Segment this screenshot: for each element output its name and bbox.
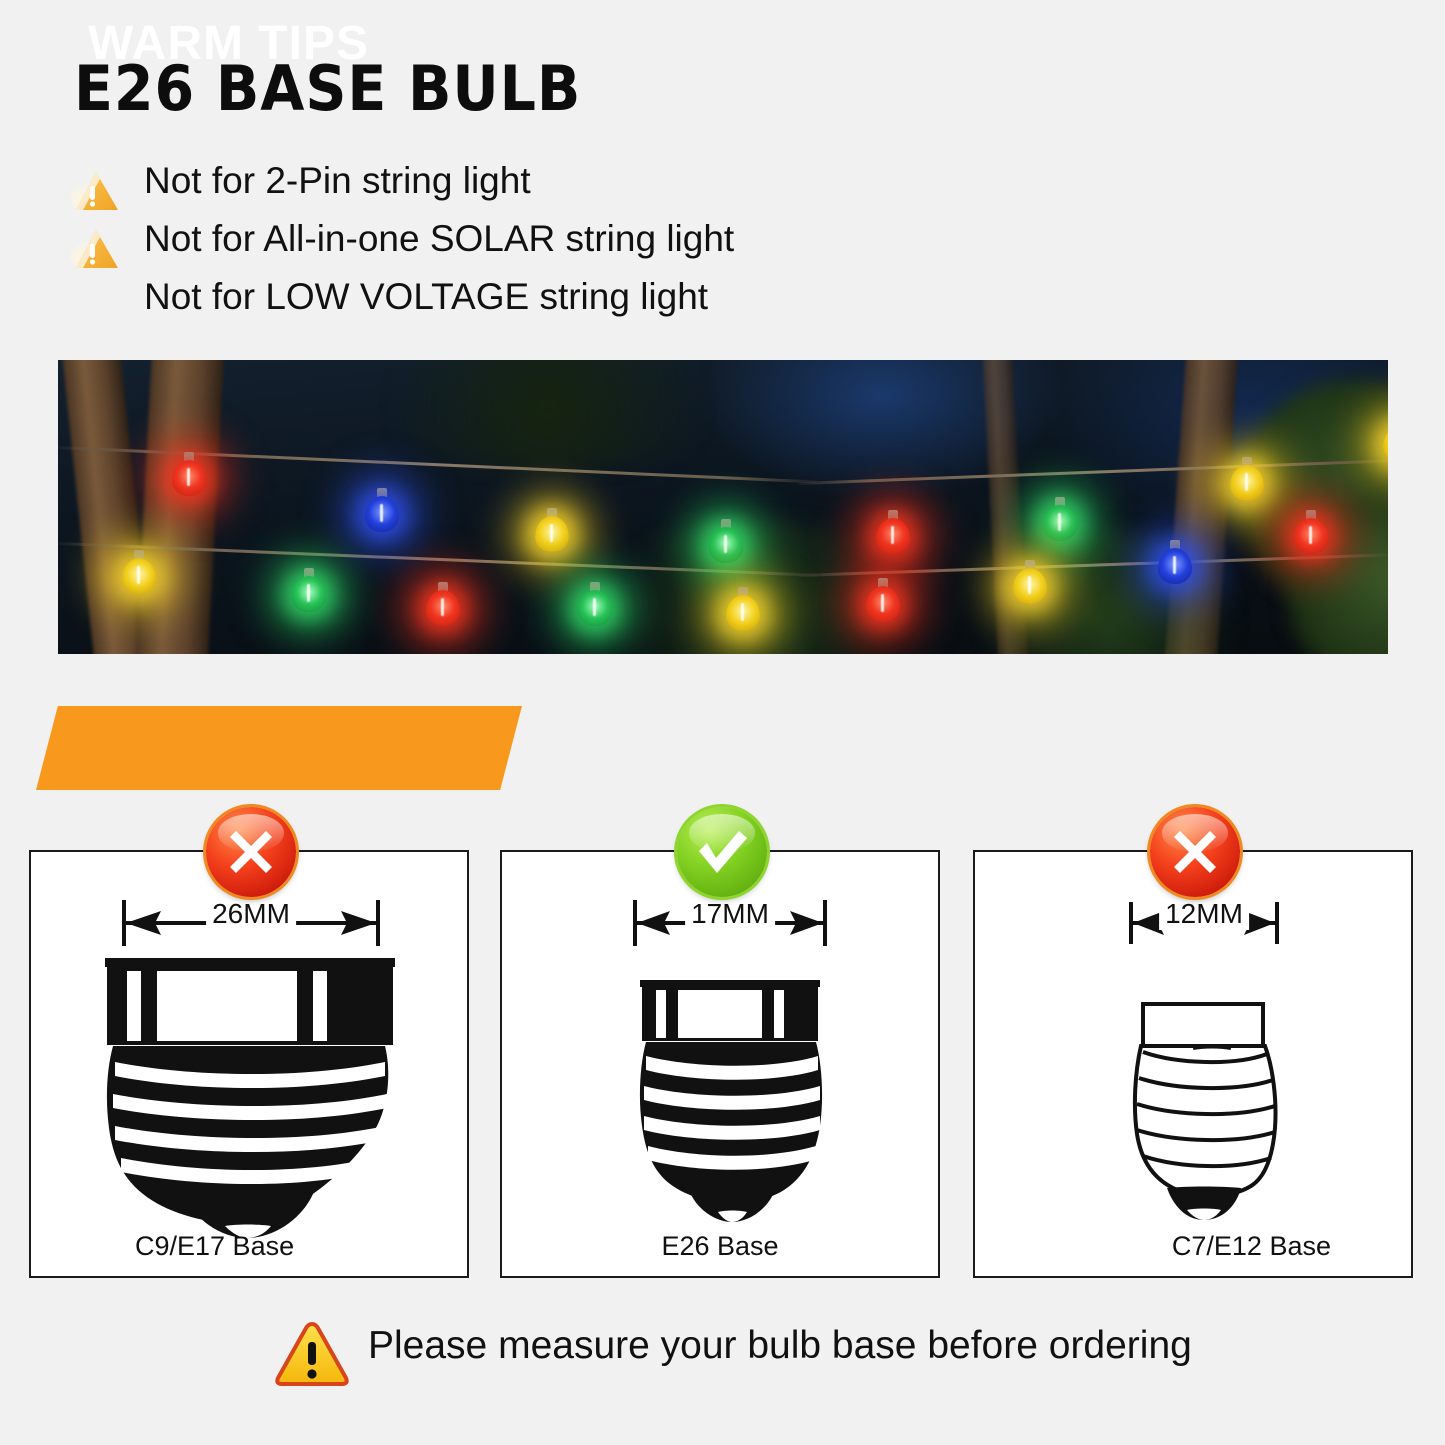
string-light-bulb	[866, 578, 900, 622]
dimension-measure: 26MM	[121, 896, 381, 952]
warning-item: Not for All-in-one SOLAR string light	[62, 218, 1062, 276]
warning-item-label: Not for All-in-one SOLAR string light	[144, 218, 734, 261]
red-x-badge-icon	[206, 807, 296, 897]
string-light-bulb	[1294, 510, 1328, 554]
bulb-base-illustration	[1127, 1002, 1279, 1220]
dimension-measure: 17MM	[632, 896, 828, 952]
dimension-measure: 12MM	[1128, 896, 1280, 952]
base-comparison-cards: 26MM	[0, 850, 1445, 1280]
base-card-e26: 17MM E26 Base	[500, 850, 940, 1278]
red-x-badge-icon	[1150, 807, 1240, 897]
base-card-c9-e17: 26MM	[29, 850, 469, 1278]
dimension-label: 26MM	[206, 898, 296, 930]
bulb-base-illustration	[95, 958, 405, 1238]
string-light-bulb	[172, 452, 206, 496]
warning-item-label: Not for LOW VOLTAGE string light	[144, 276, 708, 319]
green-check-badge-icon	[677, 807, 767, 897]
warning-list: Not for 2-Pin string light Not for All-i…	[62, 160, 1062, 332]
base-card-c7-e12: 12MM C7/E1	[973, 850, 1413, 1278]
string-light-bulb	[292, 568, 326, 612]
warning-item: Not for 2-Pin string light	[62, 160, 1062, 218]
string-light-bulb	[122, 550, 156, 594]
string-light-bulb	[726, 587, 760, 631]
warning-triangle-icon	[70, 168, 122, 214]
string-light-bulb	[1158, 540, 1192, 584]
string-light-bulb	[365, 488, 399, 532]
string-light-bulb	[426, 582, 460, 626]
string-light-bulb	[578, 582, 612, 626]
infographic-page: E26 BASE BULB	[0, 0, 1445, 1445]
warning-item-label: Not for 2-Pin string light	[144, 160, 531, 203]
dimension-label: 12MM	[1159, 898, 1249, 930]
footer-note-label: Please measure your bulb base before ord…	[368, 1324, 1192, 1368]
string-light-bulb	[535, 508, 569, 552]
warning-triangle-icon	[70, 226, 122, 272]
warm-tips-banner	[36, 706, 522, 790]
warning-exclamation-triangle-icon	[274, 1320, 350, 1390]
warning-item: Not for LOW VOLTAGE string light	[62, 276, 1062, 332]
string-lights-night-photo	[58, 360, 1388, 654]
base-card-label: E26 Base	[661, 1231, 778, 1262]
footer-note: Please measure your bulb base before ord…	[0, 1316, 1445, 1406]
bulb-base-illustration	[632, 980, 828, 1222]
warm-tips-label: WARM TIPS	[88, 16, 369, 71]
base-card-label: C9/E17 Base	[135, 1231, 294, 1262]
string-light-bulb	[1230, 457, 1264, 501]
base-card-label: C7/E12 Base	[1172, 1231, 1331, 1262]
dimension-label: 17MM	[685, 898, 775, 930]
string-light-bulb	[1013, 560, 1047, 604]
string-light-bulb	[1383, 418, 1388, 462]
